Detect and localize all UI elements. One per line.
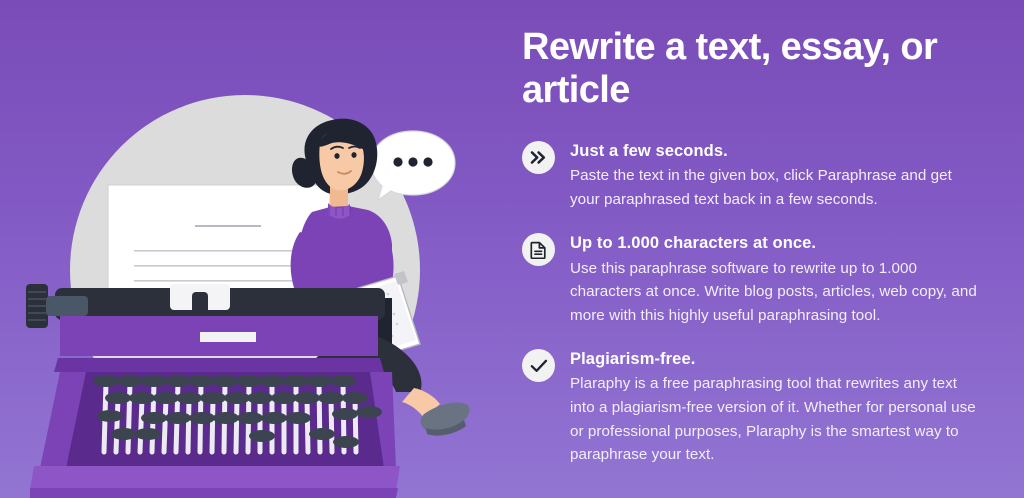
- woman-sitting-on-typewriter-illustration: [0, 0, 500, 498]
- feature-text: Plagiarism-free. Plaraphy is a free para…: [570, 348, 984, 467]
- feature-item: Up to 1.000 characters at once. Use this…: [522, 232, 984, 327]
- speech-bubble-three-dots: [371, 131, 455, 200]
- feature-title: Plagiarism-free.: [570, 348, 984, 370]
- feature-item: Just a few seconds. Paste the text in th…: [522, 140, 984, 211]
- document-lines-icon: [522, 233, 555, 266]
- checkmark-icon: [522, 349, 555, 382]
- feature-list: Just a few seconds. Paste the text in th…: [522, 140, 984, 467]
- feature-text: Up to 1.000 characters at once. Use this…: [570, 232, 984, 327]
- page-title: Rewrite a text, essay, or article: [522, 26, 992, 112]
- hero-content: Rewrite a text, essay, or article Just a…: [522, 0, 1024, 498]
- feature-description: Plaraphy is a free paraphrasing tool tha…: [570, 372, 984, 466]
- feature-item: Plagiarism-free. Plaraphy is a free para…: [522, 348, 984, 467]
- feature-description: Use this paraphrase software to rewrite …: [570, 257, 984, 328]
- typewriter: [26, 284, 400, 498]
- feature-title: Up to 1.000 characters at once.: [570, 232, 984, 254]
- double-chevron-right-icon: [522, 141, 555, 174]
- feature-text: Just a few seconds. Paste the text in th…: [570, 140, 984, 211]
- hero-section: Rewrite a text, essay, or article Just a…: [0, 0, 1024, 498]
- feature-title: Just a few seconds.: [570, 140, 984, 162]
- feature-description: Paste the text in the given box, click P…: [570, 164, 984, 211]
